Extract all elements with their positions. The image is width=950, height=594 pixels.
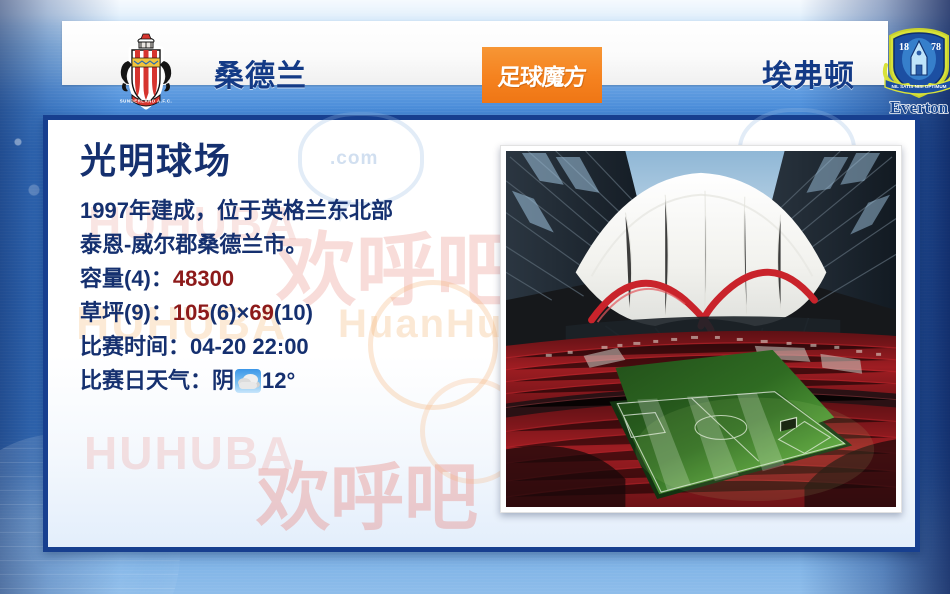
svg-text:NIL SATIS NISI OPTIMUM: NIL SATIS NISI OPTIMUM (892, 84, 947, 89)
pitch-times-symbol: × (237, 300, 250, 325)
match-header-bar: SUNDERLAND A.F.C. 桑德兰 足球魔方 埃弗顿 18 (62, 21, 888, 85)
cloudy-icon (235, 369, 261, 393)
pitch-label: 草坪(9)： (80, 300, 173, 325)
capacity-label: 容量(4)： (80, 266, 173, 291)
everton-fc-crest: 18 78 NIL SATIS NISI OPTIMUM Everton (876, 23, 950, 119)
away-team-name: 埃弗顿 (762, 51, 855, 95)
capacity-row: 容量(4)：48300 (80, 262, 500, 296)
stadium-info-card: .com .com HUHUBA 欢呼吧 HUHUBA HuanHuBa HUH… (43, 115, 920, 552)
weather-condition: 阴 (212, 368, 234, 393)
home-team-name: 桑德兰 (214, 51, 307, 95)
weather-label: 比赛日天气： (80, 368, 212, 393)
pitch-length-rank: (6) (210, 300, 237, 325)
stadium-photo (506, 151, 896, 507)
pitch-width-value: 69 (249, 300, 273, 325)
pitch-length-value: 105 (173, 300, 210, 325)
kickoff-row: 比赛时间：04-20 22:00 (80, 330, 500, 364)
pitch-row: 草坪(9)：105(6)×69(10) (80, 296, 500, 330)
kickoff-label: 比赛时间： (80, 334, 190, 359)
stadium-title: 光明球场 (80, 142, 500, 180)
watermark-brand-cn: 欢呼吧 (256, 438, 478, 545)
capacity-value: 48300 (173, 266, 234, 291)
stadium-info-text: 光明球场 1997年建成，位于英格兰东北部 泰恩-威尔郡桑德兰市。 容量(4)：… (80, 142, 500, 398)
weather-row: 比赛日天气：阴12° (80, 364, 500, 398)
stadium-description-line-2: 泰恩-威尔郡桑德兰市。 (80, 228, 500, 262)
pitch-width-rank: (10) (274, 300, 313, 325)
svg-text:SUNDERLAND A.F.C.: SUNDERLAND A.F.C. (120, 99, 173, 104)
weather-temperature: 12° (262, 368, 295, 393)
kickoff-value: 04-20 22:00 (190, 334, 309, 359)
everton-year-right: 78 (931, 42, 941, 53)
site-logo-text: 足球魔方 (497, 58, 587, 92)
stadium-description-line-1: 1997年建成，位于英格兰东北部 (80, 194, 500, 228)
page-root: SUNDERLAND A.F.C. 桑德兰 足球魔方 埃弗顿 18 (0, 0, 950, 594)
site-logo[interactable]: 足球魔方 (482, 47, 602, 103)
everton-year-left: 18 (899, 42, 909, 53)
watermark-pinyin: HUHUBA (84, 426, 295, 480)
stadium-photo-frame[interactable] (500, 145, 902, 513)
sunderland-afc-crest: SUNDERLAND A.F.C. (110, 31, 182, 111)
